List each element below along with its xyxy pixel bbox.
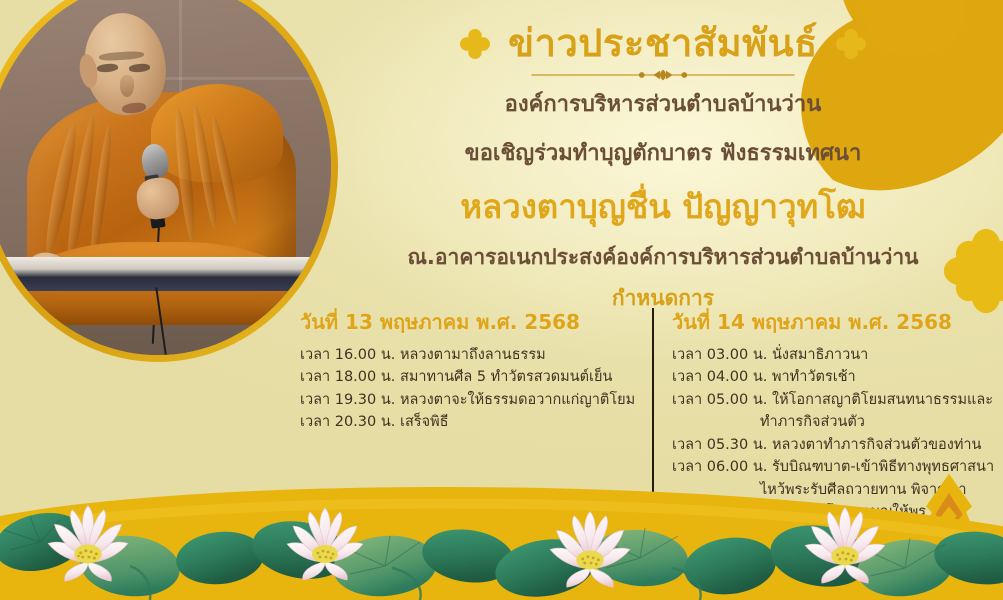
schedule-event: เวลา 03.00 น. นั่งสมาธิภาวนา: [672, 344, 1000, 366]
monk-photo: [0, 0, 331, 355]
schedule-section: วันที่ 13 พฤษภาคม พ.ศ. 2568 เวลา 16.00 น…: [300, 306, 1000, 524]
schedule-event: เวลา 06.00 น. รับบิณฑบาต-เข้าพิธีทางพุทธ…: [672, 456, 1000, 478]
venue-line: ณ.อาคารอเนกประสงค์องค์การบริหารส่วนตำบลบ…: [338, 241, 988, 274]
schedule-day-2: วันที่ 14 พฤษภาคม พ.ศ. 2568 เวลา 03.00 น…: [650, 306, 1000, 524]
schedule-event: เวลา 19.30 น. หลวงตาจะให้ธรรมดอวากแก่ญาต…: [300, 389, 632, 411]
announcement-poster: ข่าวประชาสัมพันธ์: [0, 0, 1003, 600]
seating-mat: [0, 257, 331, 291]
photo-gold-ring: [0, 0, 338, 362]
schedule-event: เวลา 18.00 น. สมาทานศีล 5 ทำวัตรสวดมนต์เ…: [300, 366, 632, 388]
schedule-event: เวลา 05.30 น. หลวงตาทำภารกิจส่วนตัวของท่…: [672, 434, 1000, 456]
schedule-event: เวลา 20.30 น. เสร็จพิธี: [300, 411, 632, 433]
schedule-day-1: วันที่ 13 พฤษภาคม พ.ศ. 2568 เวลา 16.00 น…: [300, 306, 650, 524]
schedule-event: เวลา 16.00 น. หลวงตามาถึงลานธรรม: [300, 344, 632, 366]
quatrefoil-ornament-icon: [460, 29, 490, 59]
schedule-event-continuation: ทำภารกิจส่วนตัว: [672, 411, 1000, 433]
page-title: ข่าวประชาสัมพันธ์: [508, 22, 818, 66]
schedule-event: เวลา 04.00 น. พาทำวัตรเช้า: [672, 366, 1000, 388]
day-heading: วันที่ 13 พฤษภาคม พ.ศ. 2568: [300, 306, 632, 338]
schedule-event-continuation: ไหว้พระรับศีลถวายทาน พิจารณา: [672, 479, 1000, 501]
schedule-event-continuation: อาหาร อนุโมทนาบุญให้พร: [672, 501, 1000, 523]
invitation-line: ขอเชิญร่วมทำบุญตักบาตร ฟังธรรมเทศนา: [338, 135, 988, 170]
organization-name: องค์การบริหารส่วนตำบลบ้านว่าน: [338, 86, 988, 121]
schedule-event: เวลา 05.00 น. ให้โอกาสญาติโยมสนทนาธรรมแล…: [672, 389, 1000, 411]
quatrefoil-ornament-icon: [836, 29, 866, 59]
title-row: ข่าวประชาสัมพันธ์: [338, 22, 988, 66]
day-heading: วันที่ 14 พฤษภาคม พ.ศ. 2568: [672, 306, 1000, 338]
monk-photo-frame: [0, 0, 338, 362]
thai-divider-ornament-icon: [518, 68, 808, 82]
monk-nose: [120, 75, 134, 98]
poster-header: ข่าวประชาสัมพันธ์: [338, 22, 988, 315]
monk-name: หลวงตาบุญชื่น ปัญญาวุทโฒ: [338, 180, 988, 233]
